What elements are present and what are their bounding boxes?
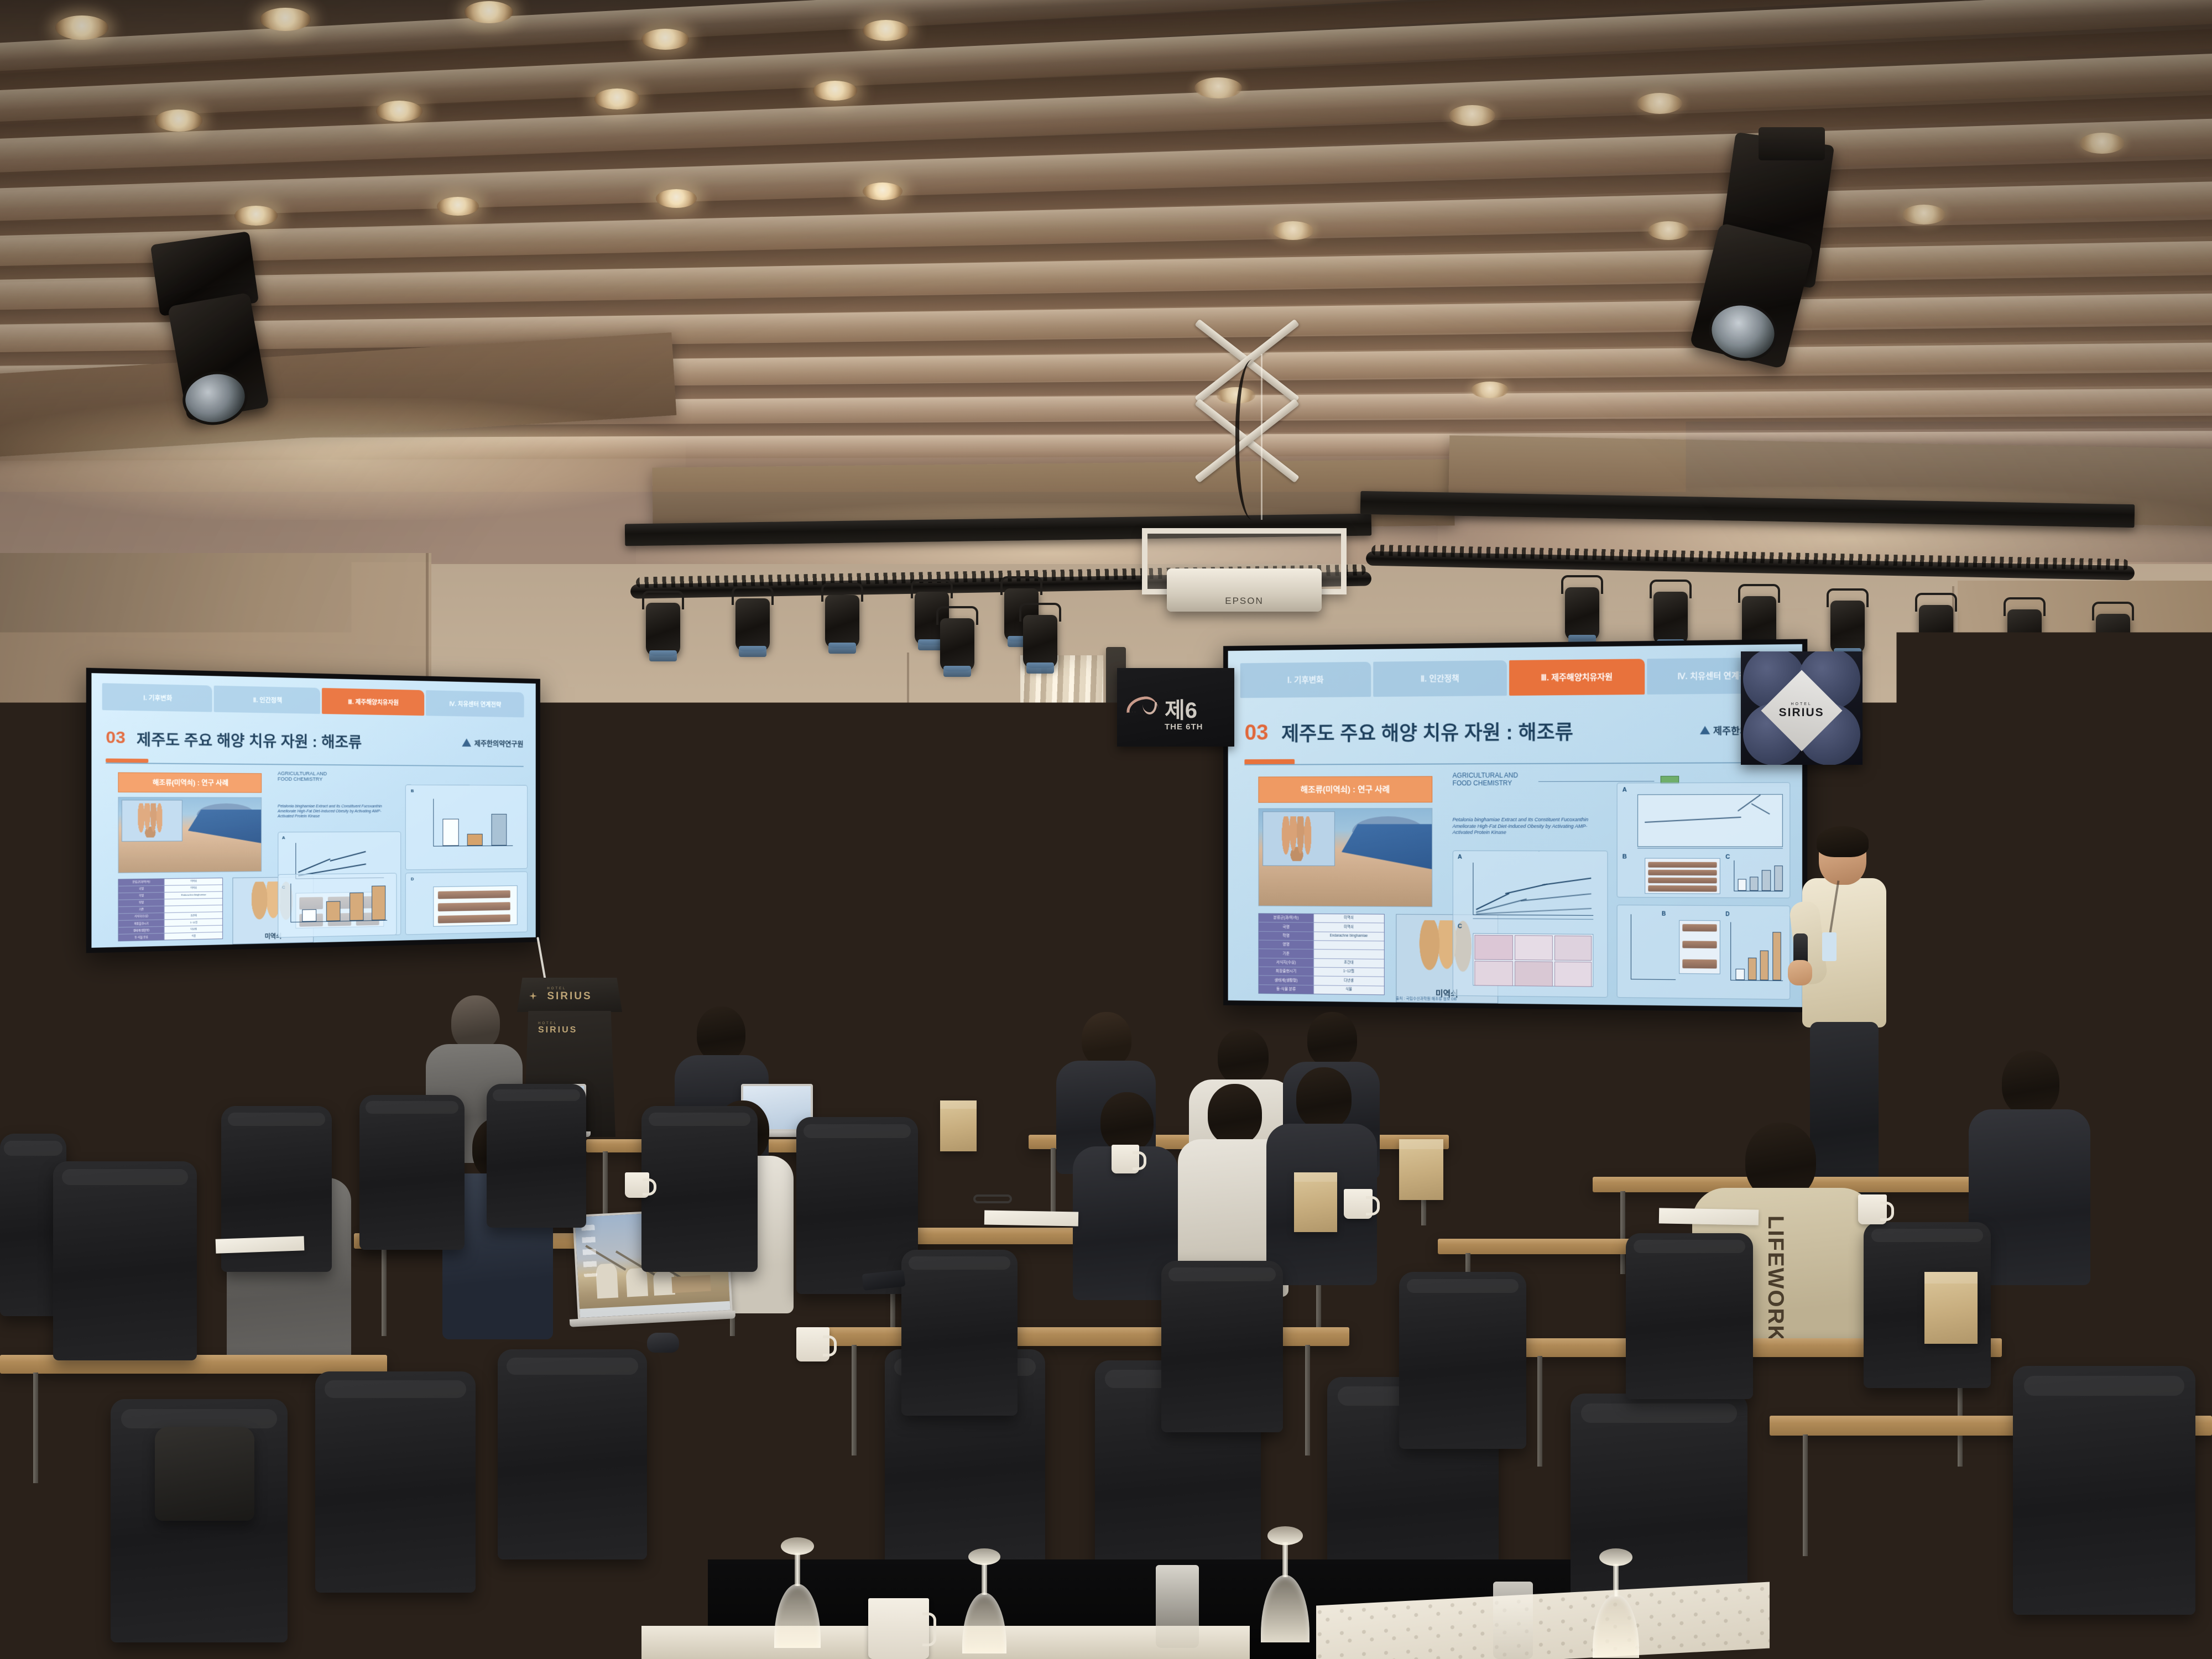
eyeglasses[interactable]	[973, 1194, 1012, 1203]
wine-glass[interactable]	[1261, 1526, 1310, 1642]
slide-journal-name-main: AGRICULTURAL AND FOOD CHEMISTRY	[1453, 772, 1591, 808]
slide-title: 제주도 주요 해양 치유 자원 : 해조류	[137, 727, 362, 752]
lifework-jacket-text: LIFEWORK	[1763, 1215, 1788, 1342]
ceiling-downlight	[55, 15, 108, 40]
slide-nav-tabs: Ⅰ. 기후변화 Ⅱ. 인간정책 Ⅲ. 제주해양치유자원 Ⅳ. 치유센터 연계전략	[102, 683, 524, 718]
ceiling-downlight	[813, 81, 857, 101]
slide-number-main: 03	[1245, 721, 1269, 745]
secondary-front-large: SIRIUS	[538, 1025, 577, 1035]
ceiling-downlight	[641, 29, 689, 50]
attendee-head	[451, 995, 500, 1051]
ceiling-downlight	[234, 206, 278, 226]
computer-mouse[interactable]	[647, 1333, 679, 1353]
org-logo-label: 제주한의약연구원	[474, 737, 524, 748]
stage-light	[825, 595, 859, 648]
left-projection-screen: Ⅰ. 기후변화 Ⅱ. 인간정책 Ⅲ. 제주해양치유자원 Ⅳ. 치유센터 연계전략…	[86, 668, 540, 953]
spec-row: 기준	[1259, 950, 1384, 959]
slide-figure-panel-3: D	[405, 872, 528, 935]
slide-journal-name: AGRICULTURAL AND FOOD CHEMISTRY	[278, 770, 384, 797]
spec-row: 동·식물 분류식물	[1259, 985, 1384, 995]
projector-scissor-lift	[1178, 354, 1360, 536]
ceiling-downlight	[437, 197, 479, 216]
left-slide: Ⅰ. 기후변화 Ⅱ. 인간정책 Ⅲ. 제주해양치유자원 Ⅳ. 치유센터 연계전략…	[91, 673, 535, 948]
attendee-head	[1296, 1067, 1352, 1129]
chair[interactable]	[2013, 1366, 2195, 1615]
right-projection-screen: Ⅰ. 기후변화 Ⅱ. 인간정책 Ⅲ. 제주해양치유자원 Ⅳ. 치유센터 연계전략…	[1223, 639, 1807, 1013]
ceiling-downlight	[656, 189, 697, 208]
exit-sign	[603, 796, 628, 811]
slide-tab-2[interactable]: Ⅱ. 인간정책	[214, 685, 320, 714]
attendee-head	[103, 1078, 160, 1144]
right-slide: Ⅰ. 기후변화 Ⅱ. 인간정책 Ⅲ. 제주해양치유자원 Ⅳ. 치유센터 연계전략…	[1228, 644, 1802, 1007]
stage-banner: 제6 THE 6TH	[1117, 668, 1234, 747]
chair[interactable]	[796, 1117, 918, 1294]
poster-line-2: INTEGRATIVE	[628, 872, 683, 878]
foreground-mug[interactable]	[868, 1598, 929, 1659]
conference-hall-photo: EPSON Ⅰ. 기후변화 Ⅱ. 인간정책 Ⅲ. 제주해양치유자원 Ⅳ. 치유센…	[0, 0, 2212, 1659]
journal-rule	[1538, 781, 1655, 782]
wave-logo-icon-2	[1142, 702, 1157, 714]
slide-paper-title: Petalonia binghamiae Extract and Its Con…	[278, 804, 393, 830]
paper-cup[interactable]	[930, 1002, 943, 1022]
ceiling-downlight	[1902, 205, 1945, 225]
slide-spec-table: 분류군(과/목/속)미역쇠 국명미역쇠 학명Endarachne bingham…	[118, 878, 223, 942]
stage-light	[1919, 605, 1953, 658]
ceiling-downlight	[1637, 93, 1682, 114]
org-logo-icon	[462, 738, 471, 747]
sirius-decor-panel: HOTEL SIRIUS	[1741, 651, 1863, 765]
handout-papers[interactable]	[984, 1211, 1078, 1227]
secondary-podium-logo: HOTEL SIRIUS	[547, 987, 592, 1003]
attendee-head	[1100, 1092, 1154, 1152]
attendee-head	[1218, 1029, 1269, 1085]
paper-bag[interactable]	[940, 1100, 977, 1151]
slide-paper-title-main: Petalonia binghamiae Extract and Its Con…	[1453, 817, 1602, 853]
ceiling-downlight	[1194, 77, 1242, 98]
secondary-podium-front-logo: HOTEL SIRIUS	[538, 1022, 577, 1035]
panelist-face	[820, 935, 850, 973]
stage-light	[1653, 592, 1688, 645]
slide-habitat-photo-main	[1259, 808, 1433, 907]
attendee-head	[697, 1006, 745, 1062]
slide-figure-panel-right-bottom: B D	[1616, 905, 1790, 1000]
slide-section-badge: 해조류(미역쇠) : 연구 사례	[118, 772, 262, 793]
coffee-mug[interactable]	[1344, 1189, 1373, 1219]
slide-tab-1[interactable]: Ⅰ. 기후변화	[102, 683, 212, 712]
projector: EPSON	[1167, 568, 1322, 612]
attendee-head	[1082, 1012, 1131, 1067]
chair[interactable]	[1626, 1233, 1753, 1399]
ceiling-downlight	[155, 109, 202, 132]
slide-seaweed-inset-main	[1262, 811, 1335, 866]
chair[interactable]	[487, 1084, 586, 1228]
laptop-sticker	[953, 995, 978, 1003]
spec-row: 학명Endarachne binghamiae	[1259, 931, 1384, 941]
curtain	[2079, 658, 2162, 1056]
panel-laptop-screen[interactable]	[940, 968, 1016, 1019]
slide-title-main: 제주도 주요 해양 치유 자원 : 해조류	[1281, 717, 1573, 747]
slide-section-badge-main: 해조류(미역쇠) : 연구 사례	[1259, 776, 1433, 803]
podium-logo-small: HOTEL	[1940, 941, 2008, 946]
backpack[interactable]	[155, 1427, 254, 1521]
slide-tab-3[interactable]: Ⅲ. 제주해양치유자원	[322, 688, 424, 716]
slide-number: 03	[106, 728, 125, 748]
handout-papers[interactable]	[1659, 1208, 1759, 1225]
chair[interactable]	[53, 1161, 197, 1360]
ceiling-downlight	[1471, 382, 1509, 398]
slide-figure-panel-4	[278, 873, 397, 938]
stage-light	[2096, 614, 2130, 667]
panelist-skirt	[812, 1055, 873, 1108]
org-logo-icon-main	[1700, 726, 1710, 734]
banner-korean-text: 제6	[1165, 692, 1197, 724]
coffee-mug[interactable]	[1858, 1194, 1887, 1224]
projector-brand-label: EPSON	[1225, 596, 1264, 612]
slide-nav-tabs-main: Ⅰ. 기후변화 Ⅱ. 인간정책 Ⅲ. 제주해양치유자원 Ⅳ. 치유센터 연계전략	[1240, 657, 1786, 698]
poster-year: 2025	[628, 904, 683, 911]
spec-row: 분류군(과/목/속)미역쇠	[1259, 914, 1384, 924]
stage-light	[735, 598, 770, 651]
spec-row: 국명미역쇠	[1259, 922, 1384, 932]
journal-line-2: FOOD CHEMISTRY	[278, 776, 384, 782]
slide-rule-main	[1245, 762, 1785, 765]
panelist-woman	[805, 924, 877, 1106]
slide-tab-4[interactable]: Ⅳ. 치유센터 연계전략	[426, 690, 524, 718]
coffee-mug[interactable]	[1112, 1145, 1139, 1173]
poster-korean-subtitle: 제6회 한방 통합의학 글로벌포럼	[628, 893, 683, 897]
ceiling-downlight	[2079, 133, 2125, 154]
attendee-head	[317, 1018, 364, 1071]
coffee-mug[interactable]	[625, 1172, 649, 1198]
chair[interactable]	[901, 1250, 1018, 1416]
slide-rule	[106, 763, 523, 767]
slide-tab-1-main[interactable]: Ⅰ. 기후변화	[1240, 661, 1371, 698]
stage-light	[1565, 587, 1599, 640]
slide-tab-3-main[interactable]: Ⅲ. 제주해양치유자원	[1509, 659, 1645, 696]
poster-dates: 9.4~5	[628, 911, 683, 917]
chair[interactable]	[1399, 1272, 1526, 1449]
attendee-head	[2002, 1051, 2059, 1116]
stage-light	[1830, 601, 1865, 654]
poster-badge	[671, 858, 684, 863]
wall-plaque	[661, 822, 693, 833]
chair[interactable]	[498, 1349, 647, 1559]
slide-spec-table-main: 분류군(과/목/속)미역쇠 국명미역쇠 학명Endarachne bingham…	[1259, 913, 1385, 995]
lift-power-cable	[1235, 359, 1274, 520]
attendee-head	[1307, 1012, 1357, 1067]
chair[interactable]	[1161, 1261, 1283, 1432]
podium-logo-large: SIRIUS	[1940, 946, 2008, 965]
wine-glass[interactable]	[1593, 1548, 1639, 1658]
stage-light	[940, 618, 974, 671]
ceiling-downlight	[863, 20, 909, 41]
slide-figure-panel-2: B	[405, 785, 528, 870]
banner-the-sixth: THE 6TH	[1165, 722, 1203, 732]
slide-org-logo: 제주한의약연구원	[462, 737, 523, 748]
moving-head-mount	[1759, 127, 1825, 160]
stage-light	[2007, 609, 2042, 662]
stage-light	[1023, 615, 1057, 668]
ceiling-downlight	[863, 182, 902, 200]
podium-logo: HOTEL SIRIUS	[1940, 941, 2008, 965]
panelist-2-head	[907, 922, 950, 973]
attendee-head	[1208, 1084, 1262, 1145]
drinking-glass[interactable]	[1156, 1565, 1199, 1648]
ceiling-downlight	[260, 8, 311, 31]
slide-figure-panel-right-top: A B C	[1616, 782, 1790, 898]
panel-laptop-base[interactable]	[937, 1019, 1021, 1024]
forum-poster: THE 6TH HANBANG INTEGRATIVE MEDICINE / G…	[623, 853, 688, 950]
journal-line-1-main: AGRICULTURAL AND	[1453, 772, 1591, 780]
ceiling-downlight	[1449, 105, 1495, 126]
slide-habitat-photo	[118, 797, 262, 873]
chair[interactable]	[641, 1106, 758, 1272]
secondary-podium-logo-large: SIRIUS	[547, 990, 592, 1003]
poster-line-4: GLOBAL FORUM	[628, 884, 683, 891]
ceiling-downlight	[1272, 221, 1314, 240]
presenter-name-badge	[1822, 932, 1837, 961]
poster-line-1: HANBANG	[628, 865, 683, 872]
chair[interactable]	[315, 1371, 476, 1593]
ceiling-downlight	[376, 101, 422, 122]
slide-seaweed-inset	[121, 800, 182, 842]
coffee-mug[interactable]	[796, 1327, 830, 1361]
wine-glass[interactable]	[962, 1548, 1006, 1653]
paper-bag[interactable]	[1924, 1272, 1978, 1344]
decor-logo-small: HOTEL	[1779, 702, 1824, 706]
slide-tab-2-main[interactable]: Ⅱ. 인간정책	[1374, 660, 1507, 697]
attendee	[1073, 1092, 1178, 1297]
ceiling-downlight	[594, 88, 640, 109]
curtain	[1020, 655, 1103, 1053]
poster-line-3: MEDICINE /	[628, 878, 683, 885]
ceiling-downlight	[1648, 221, 1689, 240]
chair[interactable]	[359, 1095, 465, 1250]
decor-logo-large: SIRIUS	[1779, 706, 1824, 719]
drinking-glass[interactable]	[1493, 1582, 1533, 1659]
spec-row: 영명	[1259, 941, 1384, 951]
ceiling-downlight	[465, 1, 513, 23]
paper-bag[interactable]	[1399, 1139, 1443, 1200]
stage-light	[646, 603, 680, 656]
paper-bag[interactable]	[1294, 1172, 1337, 1232]
slide-footnote: 출처 : 국립수산과학원 해조류 정보 DB	[1396, 996, 1457, 1002]
wine-glass[interactable]	[774, 1537, 821, 1648]
